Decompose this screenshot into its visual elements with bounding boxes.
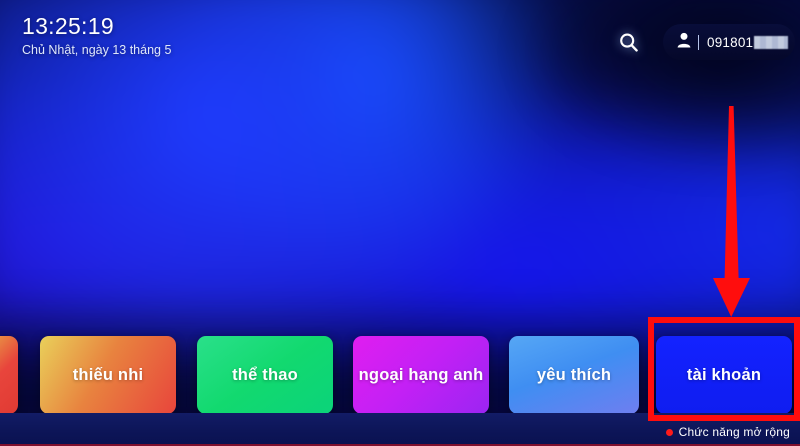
account-pill[interactable]: 091801	[663, 24, 795, 60]
account-number-redaction	[754, 36, 788, 49]
tile-label: yêu thích	[537, 366, 611, 385]
extended-function-label: Chức năng mở rộng	[679, 425, 790, 439]
tile-label: ngoại hạng anh	[359, 366, 484, 385]
tile-the-thao[interactable]: thể thao	[197, 336, 333, 414]
extended-function-note: Chức năng mở rộng	[666, 425, 790, 439]
search-button[interactable]	[610, 24, 648, 62]
tv-home-screen: 13:25:19 Chủ Nhật, ngày 13 tháng 5 09180…	[0, 0, 800, 446]
tile-label: thể thao	[232, 366, 298, 385]
clock-time: 13:25:19	[22, 14, 171, 39]
tile-tai-khoan[interactable]: tài khoản	[656, 336, 792, 414]
search-icon	[617, 31, 641, 55]
person-icon	[677, 32, 691, 53]
down-arrow-icon	[700, 106, 762, 320]
tile-label: thiếu nhi	[73, 366, 144, 385]
account-number: 091801	[707, 35, 753, 50]
tile-thieu-nhi[interactable]: thiếu nhi	[40, 336, 176, 414]
tile-label: tài khoản	[687, 366, 761, 385]
clock-date: Chủ Nhật, ngày 13 tháng 5	[22, 43, 171, 57]
clock-block: 13:25:19 Chủ Nhật, ngày 13 tháng 5	[22, 14, 171, 57]
red-dot-icon	[666, 429, 673, 436]
tile-yeu-thich[interactable]: yêu thích	[509, 336, 639, 414]
tile-partial-left[interactable]	[0, 336, 18, 414]
category-tile-row: thiếu nhi thể thao ngoại hạng anh yêu th…	[0, 336, 800, 414]
tile-ngoai-hang-anh[interactable]: ngoại hạng anh	[353, 336, 489, 414]
pill-separator	[698, 35, 699, 50]
